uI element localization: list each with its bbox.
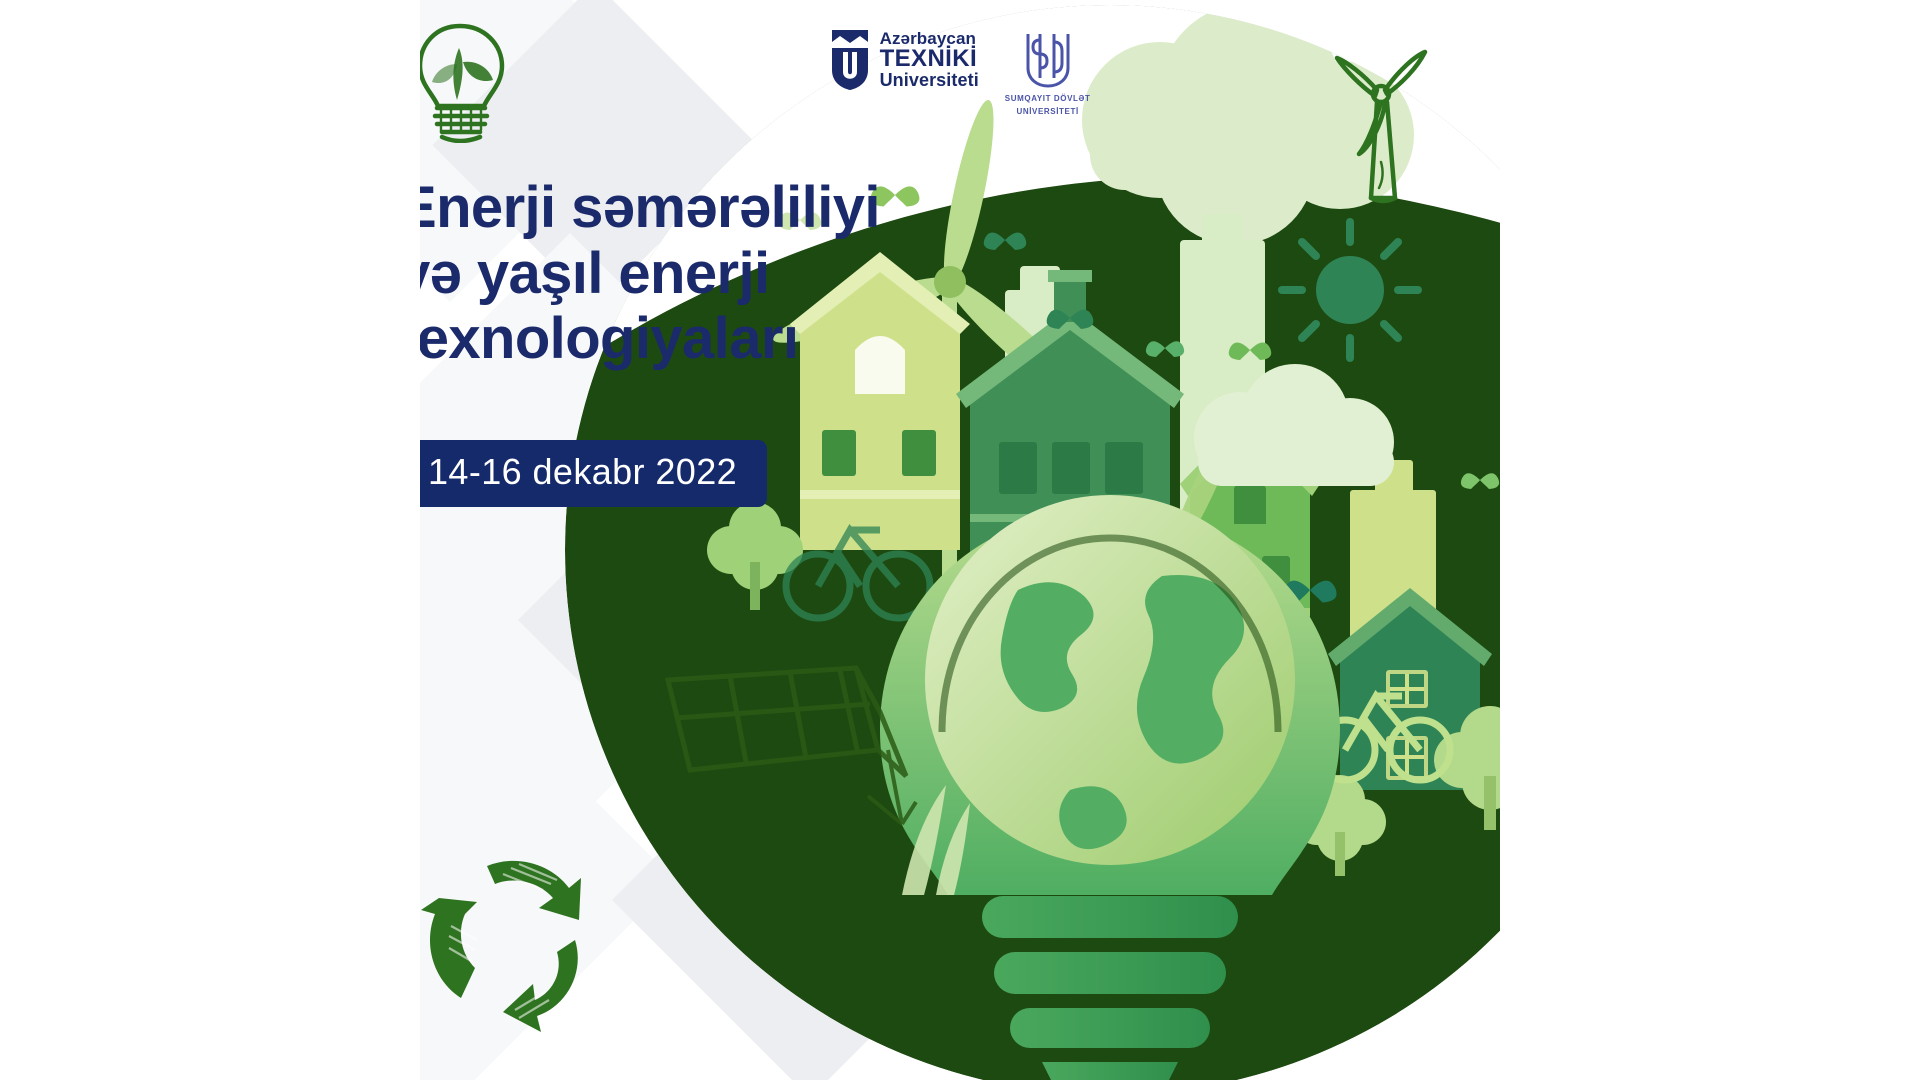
sun-icon (1282, 222, 1418, 358)
headline-line-2: və yaşıl enerji (420, 241, 958, 307)
date-badge: 14-16 dekabr 2022 (420, 440, 767, 507)
poster: Azərbaycan TEXNİKİ Universiteti SUMQAYIT… (420, 0, 1500, 1080)
atu-line-1: Azərbaycan (880, 30, 979, 47)
atu-line-2: TEXNİKİ (880, 47, 979, 71)
atu-line-3: Universiteti (880, 71, 979, 89)
atu-shield-mark (830, 28, 870, 90)
sdu-line-1: SUMQAYIT DÖVLƏT (1005, 94, 1091, 103)
sdu-shield-mark (1024, 30, 1072, 90)
poster-headline: Enerji səmərəliliyi və yaşıl enerji texn… (420, 175, 958, 372)
headline-line-3: texnologiyaları (420, 306, 958, 372)
logo-azerbaijan-technical-university: Azərbaycan TEXNİKİ Universiteti (830, 28, 979, 90)
logo-sumgait-state-university: SUMQAYIT DÖVLƏT UNİVERSİTETİ (1005, 28, 1091, 116)
atu-text-block: Azərbaycan TEXNİKİ Universiteti (880, 30, 979, 89)
poster-canvas: Azərbaycan TEXNİKİ Universiteti SUMQAYIT… (0, 0, 1920, 1080)
headline-line-1: Enerji səmərəliliyi (420, 175, 958, 241)
sdu-line-2: UNİVERSİTETİ (1016, 107, 1078, 116)
logo-row: Azərbaycan TEXNİKİ Universiteti SUMQAYIT… (420, 28, 1500, 116)
sketch-recycle-arrows-icon (420, 840, 595, 1035)
